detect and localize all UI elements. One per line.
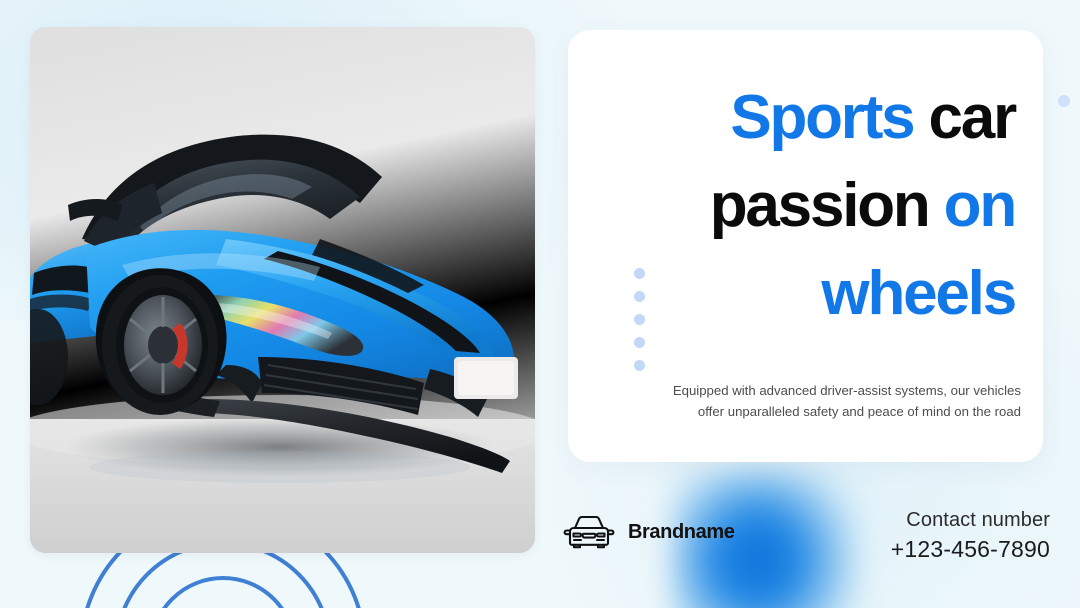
headline-line-1: Sports car	[615, 74, 1015, 162]
headline-word-passion: passion	[710, 171, 929, 240]
hero-image-card	[30, 27, 535, 553]
decorative-dot-column	[634, 268, 645, 371]
contact-number[interactable]: +123-456-7890	[891, 534, 1050, 564]
headline-line-2: passion on	[615, 162, 1015, 250]
brand-logo[interactable]: Brandname	[562, 513, 734, 551]
page-title: Sports car passion on wheels	[615, 74, 1015, 338]
headline-word-sports: Sports	[730, 83, 913, 152]
sports-car-photo	[30, 27, 535, 553]
headline-word-car: car	[929, 83, 1016, 152]
description-text: Equipped with advanced driver-assist sys…	[660, 380, 1021, 422]
headline-word-on: on	[944, 171, 1015, 240]
headline-line-3: wheels	[615, 250, 1015, 338]
decor-dot-5	[634, 360, 645, 371]
decor-dot-side	[1058, 95, 1070, 107]
contact-label: Contact number	[891, 506, 1050, 534]
decor-dot-2	[634, 291, 645, 302]
decor-dot-3	[634, 314, 645, 325]
headline-card: Sports car passion on wheels Equipped wi…	[568, 30, 1043, 462]
car-front-icon	[562, 513, 616, 551]
contact-block: Contact number +123-456-7890	[891, 506, 1050, 564]
decor-dot-1	[634, 268, 645, 279]
decor-dot-4	[634, 337, 645, 348]
brand-name-label: Brandname	[628, 521, 734, 544]
headline-word-wheels: wheels	[821, 259, 1015, 328]
